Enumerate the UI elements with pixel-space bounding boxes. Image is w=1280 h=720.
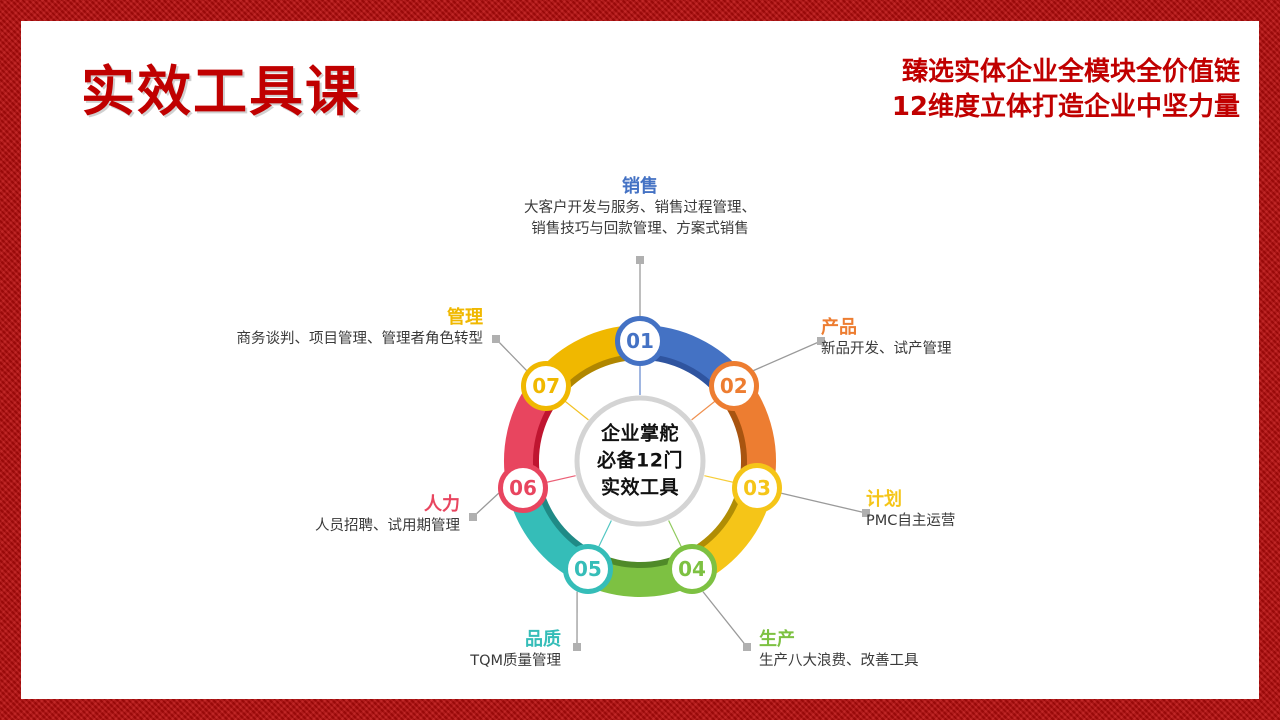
step-badge-number: 07 <box>532 376 560 396</box>
segment-title-02: 产品 <box>821 317 952 339</box>
leader-line-07 <box>496 339 527 371</box>
step-badge-number: 01 <box>626 331 654 351</box>
step-badge-06[interactable]: 06 <box>498 463 548 513</box>
segment-description-07: 商务谈判、项目管理、管理者角色转型 <box>237 329 484 350</box>
segment-title-04: 生产 <box>759 629 919 651</box>
leader-line-03 <box>781 493 866 513</box>
segment-label-03: 计划PMC自主运营 <box>866 489 955 532</box>
slide-frame: 实效工具课 臻选实体企业全模块全价值链 12维度立体打造企业中坚力量 01020… <box>0 0 1280 720</box>
segment-label-05: 品质TQM质量管理 <box>470 629 561 672</box>
segment-description-04: 生产八大浪费、改善工具 <box>759 651 919 672</box>
center-text: 企业掌舵 必备12门 实效工具 <box>597 421 683 502</box>
leader-line-04 <box>703 592 747 647</box>
step-badge-number: 06 <box>509 478 537 498</box>
segment-title-06: 人力 <box>315 494 460 516</box>
segment-title-05: 品质 <box>470 629 561 651</box>
step-badge-01[interactable]: 01 <box>615 316 665 366</box>
segment-description-05: TQM质量管理 <box>470 651 561 672</box>
leader-dot-05 <box>573 643 581 651</box>
step-badge-07[interactable]: 07 <box>521 361 571 411</box>
segment-label-07: 管理商务谈判、项目管理、管理者角色转型 <box>237 307 484 350</box>
leader-dot-04 <box>743 643 751 651</box>
segment-description-06: 人员招聘、试用期管理 <box>315 516 460 537</box>
circular-process-diagram: 01020304050607 销售大客户开发与服务、销售过程管理、 销售技巧与回… <box>21 21 1259 699</box>
segment-description-03: PMC自主运营 <box>866 511 955 532</box>
spoke-07 <box>562 399 589 420</box>
leader-line-02 <box>753 341 821 371</box>
step-badge-number: 03 <box>743 478 771 498</box>
step-badge-number: 02 <box>720 376 748 396</box>
leader-dot-07 <box>492 335 500 343</box>
segment-label-02: 产品新品开发、试产管理 <box>821 317 952 360</box>
segment-title-07: 管理 <box>237 307 484 329</box>
segment-label-06: 人力人员招聘、试用期管理 <box>315 494 460 537</box>
step-badge-02[interactable]: 02 <box>709 361 759 411</box>
segment-description-02: 新品开发、试产管理 <box>821 339 952 360</box>
step-badge-number: 05 <box>574 559 602 579</box>
step-badge-03[interactable]: 03 <box>732 463 782 513</box>
segment-title-03: 计划 <box>866 489 955 511</box>
step-badge-number: 04 <box>678 559 706 579</box>
segment-description-01: 大客户开发与服务、销售过程管理、 销售技巧与回款管理、方案式销售 <box>524 198 756 240</box>
step-badge-04[interactable]: 04 <box>667 544 717 594</box>
step-badge-05[interactable]: 05 <box>563 544 613 594</box>
leader-dot-01 <box>636 256 644 264</box>
leader-dot-06 <box>469 513 477 521</box>
segment-label-04: 生产生产八大浪费、改善工具 <box>759 629 919 672</box>
slide-canvas: 实效工具课 臻选实体企业全模块全价值链 12维度立体打造企业中坚力量 01020… <box>21 21 1259 699</box>
segment-title-01: 销售 <box>524 176 756 198</box>
segment-label-01: 销售大客户开发与服务、销售过程管理、 销售技巧与回款管理、方案式销售 <box>524 176 756 240</box>
